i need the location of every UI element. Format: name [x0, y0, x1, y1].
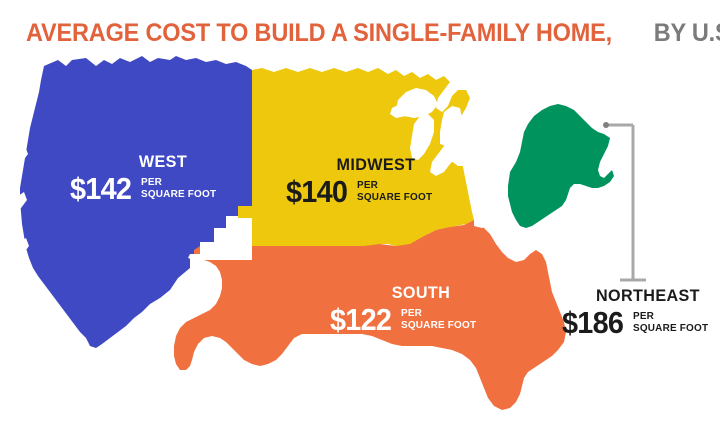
- region-label-midwest: MIDWEST $140 PER SQUARE FOOT: [286, 155, 436, 207]
- unit-line-1: PER: [357, 180, 432, 192]
- leader-line-endpoint-dot: [603, 122, 609, 128]
- region-unit-northeast: PER SQUARE FOOT: [633, 311, 708, 334]
- region-price-row-northeast: $186 PER SQUARE FOOT: [562, 308, 712, 338]
- region-name-south: SOUTH: [365, 283, 477, 303]
- region-unit-south: PER SQUARE FOOT: [401, 308, 476, 331]
- region-name-midwest: MIDWEST: [319, 155, 433, 175]
- infographic-page: AVERAGE COST TO BUILD A SINGLE-FAMILY HO…: [0, 0, 720, 439]
- region-label-northeast: NORTHEAST $186 PER SQUARE FOOT: [562, 286, 712, 338]
- region-unit-midwest: PER SQUARE FOOT: [357, 180, 432, 203]
- region-price-south: $122: [330, 305, 391, 335]
- region-label-west: WEST $142 PER SQUARE FOOT: [70, 152, 220, 204]
- northeast-leader-line: [603, 122, 646, 280]
- region-price-west: $142: [70, 174, 131, 204]
- unit-line-2: SQUARE FOOT: [141, 189, 216, 201]
- unit-line-1: PER: [633, 311, 708, 323]
- region-label-south: SOUTH $122 PER SQUARE FOOT: [330, 283, 480, 335]
- title-main-text: AVERAGE COST TO BUILD A SINGLE-FAMILY HO…: [26, 18, 612, 48]
- unit-line-1: PER: [141, 177, 216, 189]
- region-unit-west: PER SQUARE FOOT: [141, 177, 216, 200]
- region-price-northeast: $186: [562, 308, 623, 338]
- region-price-row-midwest: $140 PER SQUARE FOOT: [286, 177, 436, 207]
- northeast-midwest-divider: [474, 204, 510, 228]
- page-title: AVERAGE COST TO BUILD A SINGLE-FAMILY HO…: [26, 18, 702, 48]
- region-price-row-west: $142 PER SQUARE FOOT: [70, 174, 220, 204]
- region-shape-northeast[interactable]: [508, 104, 614, 228]
- unit-line-2: SQUARE FOOT: [401, 320, 476, 332]
- region-price-row-south: $122 PER SQUARE FOOT: [330, 305, 480, 335]
- region-name-northeast: NORTHEAST: [587, 286, 709, 306]
- us-map-svg: [0, 46, 720, 439]
- unit-line-2: SQUARE FOOT: [633, 323, 708, 335]
- region-price-midwest: $140: [286, 177, 347, 207]
- unit-line-2: SQUARE FOOT: [357, 192, 432, 204]
- title-sub-text: BY U.S. REGION: [649, 18, 720, 48]
- us-region-map: [0, 46, 720, 439]
- unit-line-1: PER: [401, 308, 476, 320]
- region-name-west: WEST: [109, 152, 217, 172]
